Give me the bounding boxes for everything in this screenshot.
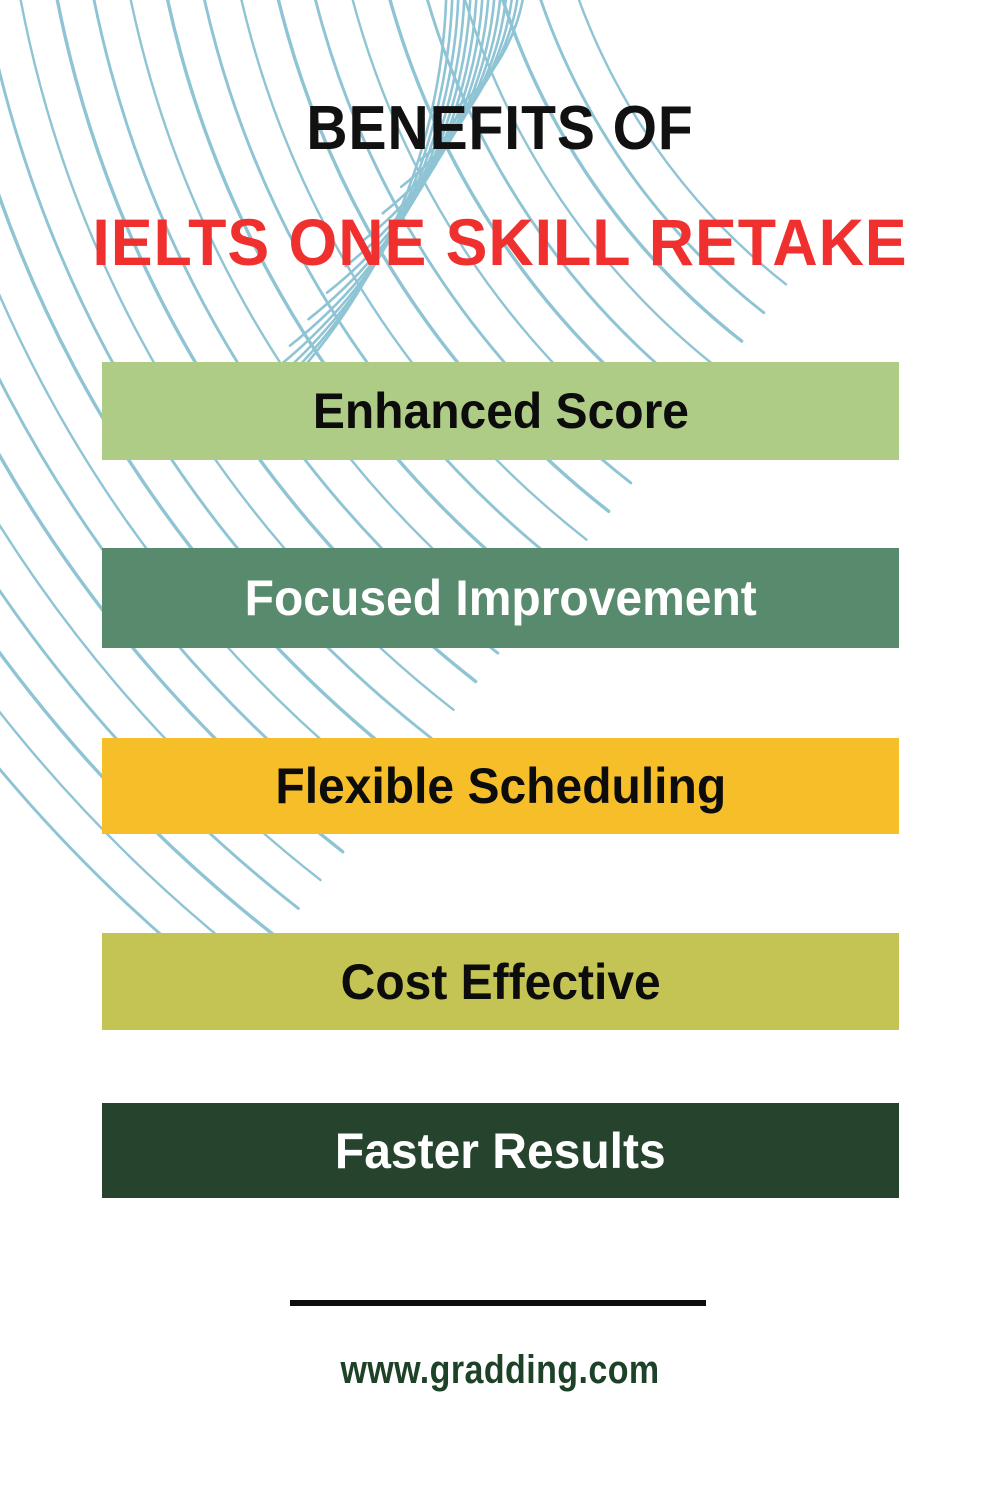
benefit-label: Flexible Scheduling: [275, 760, 726, 812]
benefit-label: Faster Results: [335, 1125, 666, 1177]
benefit-label: Enhanced Score: [312, 385, 688, 437]
benefit-label: Cost Effective: [340, 956, 660, 1008]
footer-divider: [290, 1300, 706, 1306]
benefit-bar-flexible-scheduling: Flexible Scheduling: [102, 738, 899, 834]
benefit-bar-cost-effective: Cost Effective: [102, 933, 899, 1030]
benefit-bar-focused-improvement: Focused Improvement: [102, 548, 899, 648]
benefit-bar-faster-results: Faster Results: [102, 1103, 899, 1198]
page-title-line-1: BENEFITS OF: [40, 96, 960, 162]
benefit-label: Focused Improvement: [244, 572, 756, 624]
benefit-bar-enhanced-score: Enhanced Score: [102, 362, 899, 460]
page-title-line-2: IELTS ONE SKILL RETAKE: [25, 206, 975, 278]
infographic-poster: BENEFITS OF IELTS ONE SKILL RETAKE Enhan…: [0, 0, 1000, 1500]
footer-website-url[interactable]: www.gradding.com: [75, 1348, 925, 1392]
